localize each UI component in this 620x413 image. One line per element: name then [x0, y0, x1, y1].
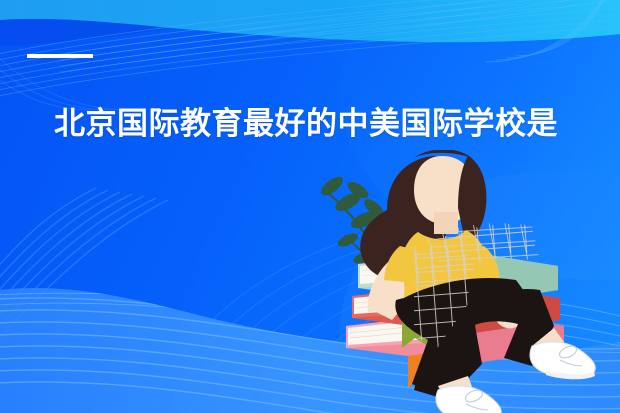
seated-woman-figure [360, 150, 595, 413]
promo-banner: 北京国际教育最好的中美国际学校是 [0, 0, 620, 413]
illustration-svg [318, 150, 620, 413]
white-sneaker-front [530, 342, 595, 379]
white-sneaker-back [436, 386, 501, 413]
decorative-underline [27, 54, 93, 58]
illustration-woman-on-books [318, 150, 620, 413]
page-title: 北京国际教育最好的中美国际学校是 [54, 104, 558, 144]
